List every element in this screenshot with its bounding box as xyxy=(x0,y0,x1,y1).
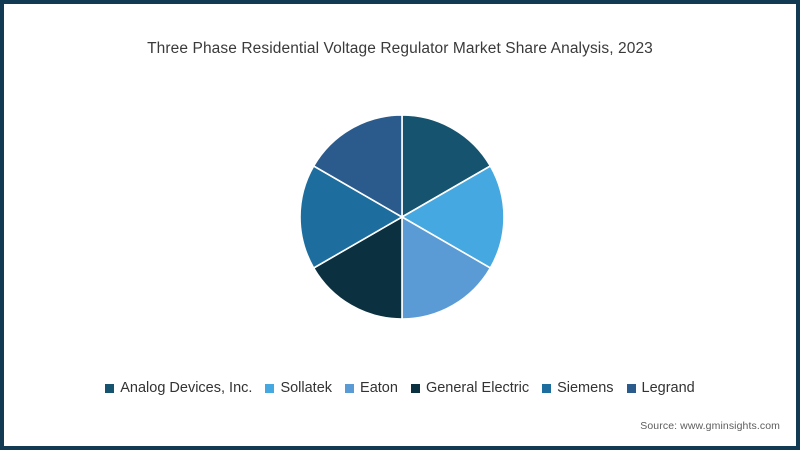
source-note: Source: www.gminsights.com xyxy=(640,420,780,432)
legend-item[interactable]: Eaton xyxy=(345,381,398,396)
legend-item-label: Eaton xyxy=(360,381,398,396)
legend-swatch-icon xyxy=(627,384,636,393)
pie-chart: Analog Devices, Inc.: 16.7%Sollatek: 16.… xyxy=(300,115,504,319)
legend-item-label: Legrand xyxy=(642,381,695,396)
legend-item[interactable]: Siemens xyxy=(542,381,613,396)
legend-swatch-icon xyxy=(411,384,420,393)
chart-title: Three Phase Residential Voltage Regulato… xyxy=(4,40,796,58)
legend-item-label: Sollatek xyxy=(280,381,332,396)
legend-item[interactable]: General Electric xyxy=(411,381,529,396)
legend-swatch-icon xyxy=(265,384,274,393)
pie-chart-svg: Analog Devices, Inc.: 16.7%Sollatek: 16.… xyxy=(300,115,504,319)
legend-swatch-icon xyxy=(542,384,551,393)
pie-slice-group: Analog Devices, Inc.: 16.7%Sollatek: 16.… xyxy=(300,115,504,319)
legend-item[interactable]: Analog Devices, Inc. xyxy=(105,381,252,396)
legend-item-label: Siemens xyxy=(557,381,613,396)
chart-legend: Analog Devices, Inc.SollatekEatonGeneral… xyxy=(4,381,796,396)
legend-item-label: Analog Devices, Inc. xyxy=(120,381,252,396)
legend-item[interactable]: Legrand xyxy=(627,381,695,396)
legend-item-label: General Electric xyxy=(426,381,529,396)
chart-card: Three Phase Residential Voltage Regulato… xyxy=(0,0,800,450)
legend-item[interactable]: Sollatek xyxy=(265,381,332,396)
legend-swatch-icon xyxy=(105,384,114,393)
legend-swatch-icon xyxy=(345,384,354,393)
